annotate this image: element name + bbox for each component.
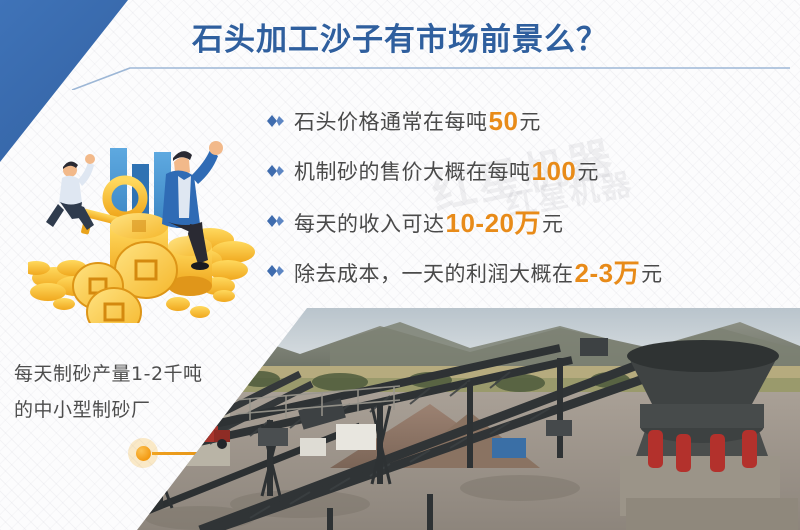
list-item-text: 每天的收入可达10-20万元 — [294, 203, 564, 240]
jumping-businessman-figure — [46, 154, 95, 230]
poster-root: 红星机器 红星机器 石头加工沙子有市场前景么？ 石头价格通常在每吨50元 — [0, 0, 800, 530]
bullet-highlight: 2-3万 — [574, 258, 642, 288]
pointer-dot-marker — [128, 438, 158, 468]
double-diamond-icon — [266, 114, 294, 128]
bullet-prefix: 每天的收入可达 — [294, 212, 445, 236]
bullet-list: 石头价格通常在每吨50元 机制砂的售价大概在每吨100元 每天的收入可达10-2… — [266, 96, 786, 296]
list-item-text: 石头价格通常在每吨50元 — [294, 106, 541, 137]
bullet-prefix: 除去成本，一天的利润大概在 — [294, 262, 574, 286]
gold-coins-illustration — [28, 128, 258, 323]
bullet-suffix: 元 — [519, 110, 541, 134]
bullet-highlight: 10-20万 — [445, 208, 543, 238]
list-item: 石头价格通常在每吨50元 — [266, 96, 786, 146]
double-diamond-icon — [266, 264, 294, 278]
list-item: 机制砂的售价大概在每吨100元 — [266, 146, 786, 196]
list-item-text: 机制砂的售价大概在每吨100元 — [294, 156, 599, 187]
bullet-suffix: 元 — [577, 160, 599, 184]
list-item: 除去成本，一天的利润大概在2-3万元 — [266, 246, 786, 296]
list-item-text: 除去成本，一天的利润大概在2-3万元 — [294, 253, 663, 290]
bullet-prefix: 机制砂的售价大概在每吨 — [294, 160, 531, 184]
double-diamond-icon — [266, 164, 294, 178]
bullet-prefix: 石头价格通常在每吨 — [294, 110, 488, 134]
bullet-highlight: 50 — [488, 106, 520, 136]
caption-line-1: 每天制砂产量1-2千吨 — [14, 356, 264, 392]
bullet-suffix: 元 — [641, 262, 663, 286]
double-diamond-icon — [266, 214, 294, 228]
bullet-suffix: 元 — [542, 212, 564, 236]
bullet-highlight: 100 — [531, 156, 578, 186]
title-divider — [0, 40, 800, 90]
list-item: 每天的收入可达10-20万元 — [266, 196, 786, 246]
